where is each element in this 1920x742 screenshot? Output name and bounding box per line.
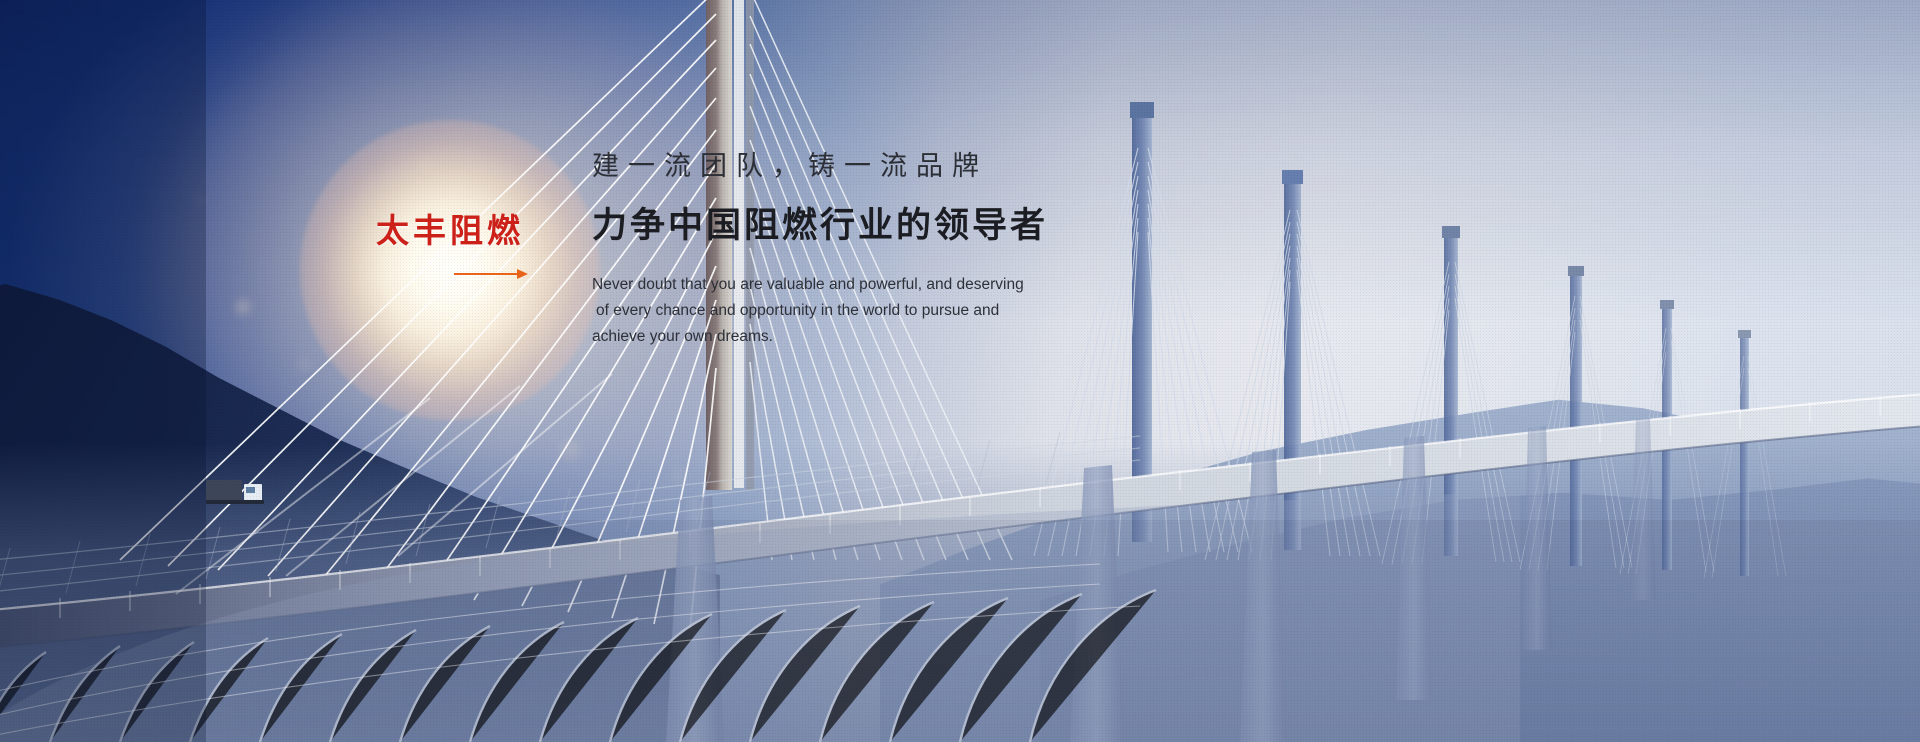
banner-copy: 建一流团队，铸一流品牌 力争中国阻燃行业的领导者 Never doubt tha… (592, 152, 1112, 350)
headline-line-2: 力争中国阻燃行业的领导者 (592, 206, 1112, 246)
arrow-head (517, 269, 528, 279)
subtext-line-1: Never doubt that you are valuable and po… (592, 272, 1052, 298)
subtext-line-2: of every chance and opportunity in the w… (592, 298, 1052, 324)
banner-subtext: Never doubt that you are valuable and po… (592, 272, 1052, 350)
banner-content: 太丰阻燃 建一流团队，铸一流品牌 力争中国阻燃行业的领导者 Never doub… (0, 0, 1920, 742)
arrow-shaft (454, 273, 520, 275)
brand-logo-text: 太丰阻燃 (376, 214, 536, 247)
hero-banner: 太丰阻燃 建一流团队，铸一流品牌 力争中国阻燃行业的领导者 Never doub… (0, 0, 1920, 742)
headline-line-1: 建一流团队，铸一流品牌 (592, 152, 1112, 182)
arrow-right-icon (454, 269, 528, 279)
subtext-line-3: achieve your own dreams. (592, 324, 1052, 350)
brand-logo[interactable]: 太丰阻燃 (376, 214, 536, 279)
